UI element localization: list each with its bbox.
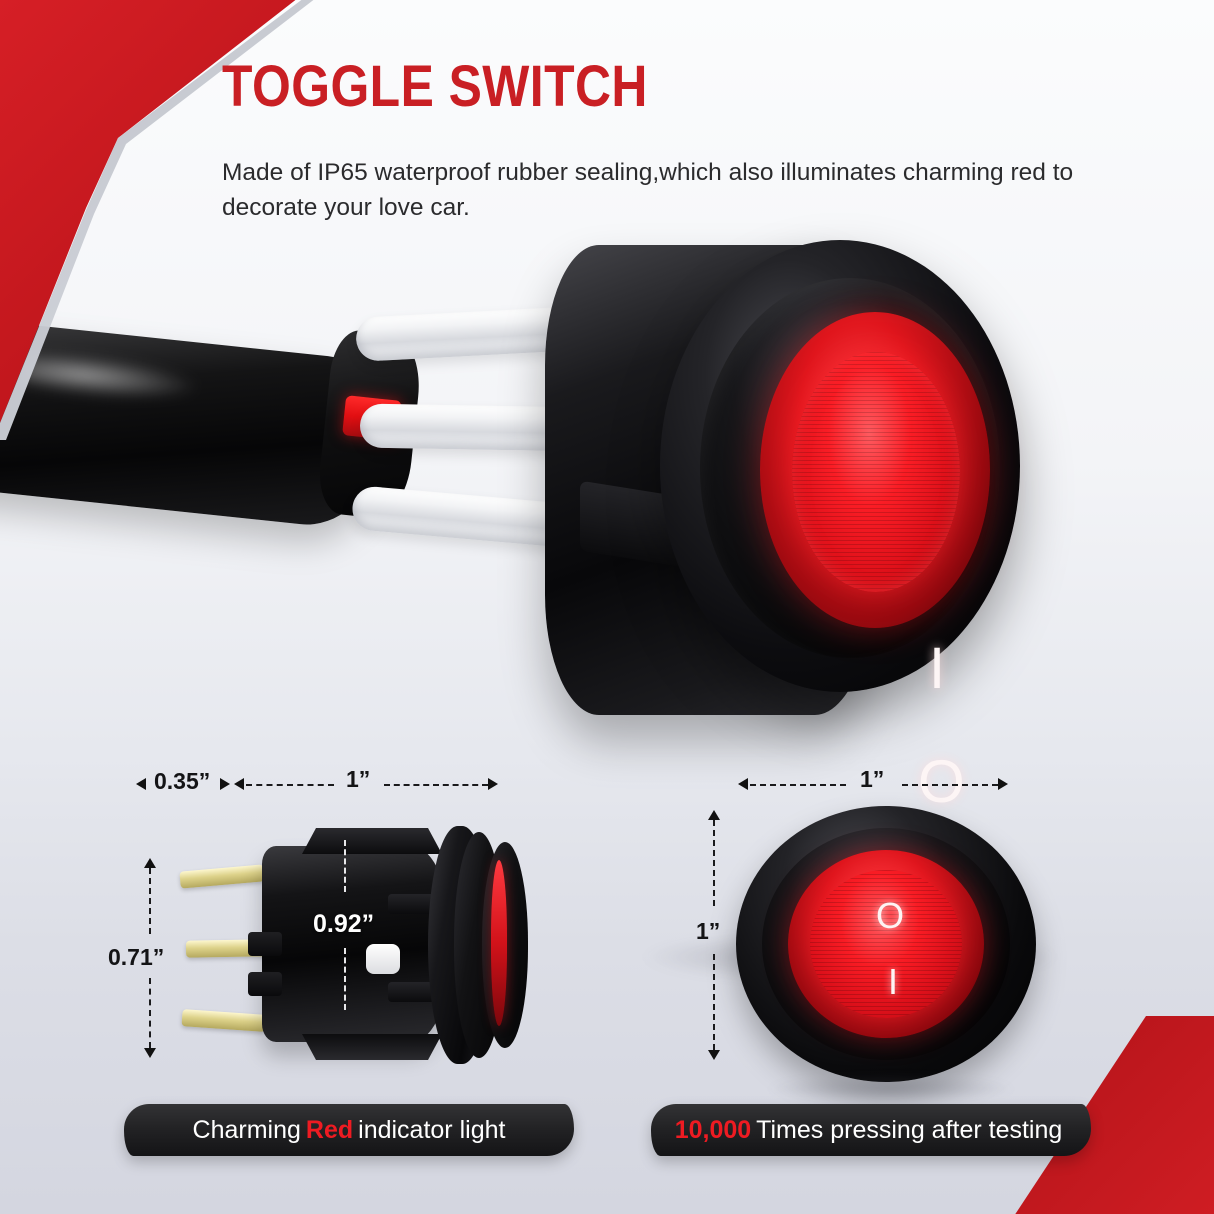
dim-height-dash-bottom: [713, 954, 715, 1050]
switch-terminal-pin-1: [179, 864, 264, 888]
caption-indicator-highlight: Red: [306, 1116, 353, 1145]
caption-indicator-prefix: Charming: [188, 1116, 306, 1145]
page-title: TOGGLE SWITCH: [222, 58, 1013, 116]
side-view-drawing: [152, 812, 542, 1074]
dim-height-arrow-up: [708, 810, 720, 820]
dim-071-dash-bottom: [149, 978, 151, 1048]
dim-width-arrow-left: [738, 778, 748, 790]
side-view-tab-1: [248, 932, 282, 956]
side-view-top-clip: [302, 828, 442, 854]
side-view-red-rim: [491, 860, 507, 1026]
dim-1in-dash-right: [384, 784, 488, 786]
hero-product-image: I O: [0, 240, 1214, 760]
caption-indicator-suffix: indicator light: [353, 1116, 510, 1145]
dim-1in-arrow-left: [234, 778, 244, 790]
dim-035-arrow-right: [220, 778, 230, 790]
dim-1in-arrow-right: [488, 778, 498, 790]
caption-durability-highlight: 10,000: [675, 1116, 751, 1145]
infographic-canvas: TOGGLE SWITCH Made of IP65 waterproof ru…: [0, 0, 1214, 1214]
switch-illuminated-lens: [792, 352, 960, 592]
dim-1in-dash-left: [246, 784, 334, 786]
caption-durability-pill: 10,000Times pressing after testing: [651, 1104, 1091, 1156]
side-view-tab-2: [248, 972, 282, 996]
page-description: Made of IP65 waterproof rubber sealing,w…: [222, 156, 1127, 226]
switch-terminal-pin-3: [182, 1009, 267, 1032]
front-view-marking-on: I: [888, 964, 898, 1000]
dim-092-dash-top: [344, 840, 346, 892]
side-view-panel: 0.35” 1” 0.71”: [110, 762, 540, 1092]
dim-body-diameter-label: 0.92”: [313, 910, 374, 939]
side-view-bottom-clip: [302, 1034, 442, 1060]
caption-durability-suffix: Times pressing after testing: [751, 1116, 1067, 1145]
header-block: TOGGLE SWITCH Made of IP65 waterproof ru…: [222, 58, 1142, 226]
dim-071-dash-top: [149, 868, 151, 934]
dim-depth-rear-label: 0.35”: [154, 768, 210, 795]
lens-marking-on: I: [929, 640, 945, 698]
side-view-barrel: [262, 846, 452, 1042]
dim-height-arrow-down: [708, 1050, 720, 1060]
dim-width-dash-right: [902, 784, 998, 786]
dim-width-arrow-right: [998, 778, 1008, 790]
dim-front-height-label: 1”: [696, 918, 720, 945]
dim-depth-front-label: 1”: [346, 766, 370, 793]
caption-indicator-pill: CharmingRedindicator light: [124, 1104, 574, 1156]
front-view-drop-shadow: [766, 1074, 1016, 1104]
dim-width-dash-left: [750, 784, 846, 786]
dim-height-dash-top: [713, 820, 715, 906]
front-view-lens: [810, 870, 962, 1018]
dim-092-dash-bottom: [344, 948, 346, 1010]
dim-front-width-label: 1”: [860, 766, 884, 793]
dim-035-arrow-left: [136, 778, 146, 790]
front-view-panel: 1” 1” O I: [690, 762, 1090, 1092]
side-view-white-marker: [366, 944, 400, 974]
front-view-marking-off: O: [876, 898, 904, 934]
front-view-drawing: O I: [736, 806, 1066, 1086]
